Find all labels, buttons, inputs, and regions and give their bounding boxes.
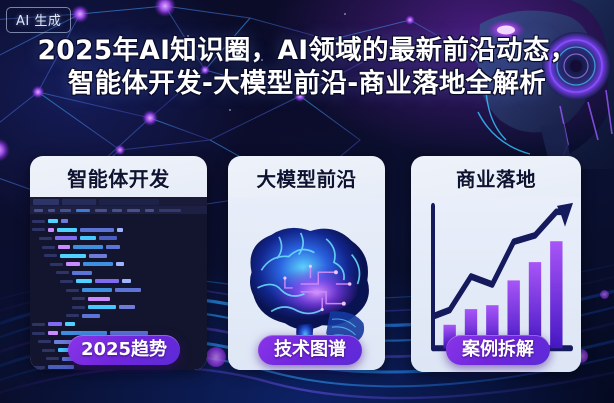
card-heading: 智能体开发 [30,156,207,197]
card-heading: 商业落地 [411,156,581,197]
brain-icon [228,214,385,354]
pill-large-model-frontier[interactable]: 技术图谱 [258,335,362,365]
cards-row: 智能体开发 [0,156,614,403]
chart-bar [550,241,562,348]
title-line-2: 智能体开发-大模型前沿-商业落地全解析 [0,67,614,100]
card-heading: 大模型前沿 [228,156,385,197]
title-line-1: 2025年AI知识圈，AI领域的最新前沿动态， [38,35,577,66]
pill-agent-development[interactable]: 2025趋势 [68,335,180,365]
pill-commercial-landing[interactable]: 案例拆解 [446,335,550,365]
poster: AI 生成 2025年AI知识圈，AI领域的最新前沿动态， 智能体开发-大模型前… [0,0,614,403]
ai-generated-badge: AI 生成 [6,7,71,33]
page-title: 2025年AI知识圈，AI领域的最新前沿动态， 智能体开发-大模型前沿-商业落地… [0,34,614,100]
